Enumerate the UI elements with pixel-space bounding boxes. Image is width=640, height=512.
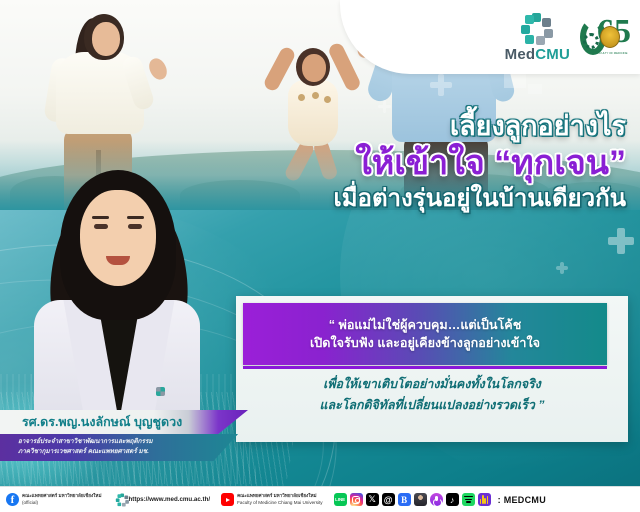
logo-bar: MedCMU 65 FACULTY OF MEDICINE: [340, 0, 640, 74]
quote-highlight-box: “ พ่อแม่ไม่ใช่ผู้ควบคุม…แต่เป็นโค้ช เปิด…: [243, 303, 607, 365]
medcmu-wordmark-prefix: Med: [505, 46, 536, 63]
medcmu-petal-mark-icon: [112, 493, 125, 506]
facebook-icon[interactable]: f: [6, 493, 19, 506]
quote-sub-line-1: เพื่อให้เขาเติบโตอย่างมั่นคงทั้งในโลกจริ…: [323, 376, 541, 394]
poster-canvas: MedCMU 65 FACULTY OF MEDICINE เลี้ยงลูกอ…: [0, 0, 640, 512]
footer-social-icons: LINE 𝕏 @ B ♪: [334, 493, 491, 506]
x-glyph: 𝕏: [368, 494, 375, 505]
footer-website[interactable]: https://www.med.cmu.ac.th/: [112, 493, 210, 506]
medcmu-petal-mark-icon: [521, 13, 553, 45]
headline-line-1: เลี้ยงลูกอย่างไร: [186, 112, 626, 141]
footer-bar: f คณะแพทยศาสตร์ มหาวิทยาลัยเชียงใหม่ (of…: [0, 486, 640, 512]
medical-cross-icon: [430, 74, 452, 96]
tiktok-glyph: ♪: [450, 495, 455, 505]
tiktok-icon[interactable]: ♪: [446, 493, 459, 506]
mother-face: [92, 22, 120, 56]
speaker-affiliation-line-1: อาจารย์ประจำสาขาวิชาพัฒนาการและพฤติกรรม: [18, 437, 248, 447]
line-glyph: LINE: [335, 497, 345, 502]
speaker-eye-right: [128, 224, 142, 229]
speaker-name: รศ.ดร.พญ.นงลักษณ์ บุญชูดวง: [0, 412, 182, 432]
medcmu-logo: MedCMU: [505, 13, 570, 62]
quote-highlight-line-2: เปิดใจรับฟัง และอยู่เคียงข้างลูกอย่างเข้…: [310, 334, 540, 352]
quote-sub-line-2: และโลกดิจิทัลที่เปลี่ยนแปลงอย่างรวดเร็ว …: [320, 397, 545, 415]
medcmu-wordmark: MedCMU: [505, 47, 570, 62]
quote-highlight-line-1: “ พ่อแม่ไม่ใช่ผู้ควบคุม…แต่เป็นโค้ช: [329, 316, 522, 334]
speaker-name-bar: รศ.ดร.พญ.นงลักษณ์ บุญชูดวง: [0, 410, 248, 434]
speaker-photo: [18, 168, 214, 436]
footer-handle: : MEDCMU: [498, 495, 546, 505]
decorative-square: [528, 84, 542, 94]
youtube-play-triangle: [226, 498, 230, 502]
footer-youtube[interactable]: คณะแพทยศาสตร์ มหาวิทยาลัยเชียงใหม่ Facul…: [221, 493, 323, 506]
medical-cross-icon: [556, 262, 568, 274]
decorative-square: [504, 72, 526, 88]
instagram-icon[interactable]: [350, 493, 363, 506]
anniversary-seal-icon: [600, 26, 620, 48]
footer-facebook-label: คณะแพทยศาสตร์ มหาวิทยาลัยเชียงใหม่ (offi…: [22, 493, 101, 505]
headline-block: เลี้ยงลูกอย่างไร ให้เข้าใจ “ทุกเจน” เมื่…: [186, 112, 626, 212]
speaker-brow-left: [92, 216, 109, 219]
anniversary-caption: FACULTY OF MEDICINE: [596, 51, 627, 55]
headline-line-2: ให้เข้าใจ “ทุกเจน”: [186, 145, 626, 182]
line-icon[interactable]: LINE: [334, 493, 347, 506]
footer-youtube-line-2: Faculty of Medicine Chiang Mai Universit…: [237, 500, 323, 505]
blockdit-glyph: B: [401, 495, 407, 505]
medical-cross-icon: [608, 228, 634, 254]
footer-facebook-line-2: (official): [22, 500, 38, 505]
speaker-coat-badge: [156, 384, 186, 398]
photo-icon[interactable]: [414, 493, 427, 506]
instagram-camera-glyph: [352, 496, 360, 504]
soundwave-icon[interactable]: [478, 493, 491, 506]
quote-subtext: เพื่อให้เขาเติบโตอย่างมั่นคงทั้งในโลกจริ…: [236, 376, 628, 415]
medcmu-wordmark-suffix: CMU: [535, 46, 570, 63]
speaker-eye-left: [94, 224, 108, 229]
soundwave-bars-glyph: [480, 495, 489, 504]
footer-facebook[interactable]: f คณะแพทยศาสตร์ มหาวิทยาลัยเชียงใหม่ (of…: [6, 493, 101, 506]
speaker-affiliation-bar: อาจารย์ประจำสาขาวิชาพัฒนาการและพฤติกรรม …: [0, 434, 248, 461]
anniversary-gear-icon: [583, 33, 599, 49]
apple-podcasts-icon[interactable]: [430, 493, 443, 506]
badge-mark-icon: [156, 387, 165, 396]
footer-youtube-label: คณะแพทยศาสตร์ มหาวิทยาลัยเชียงใหม่ Facul…: [237, 493, 323, 505]
x-twitter-icon[interactable]: 𝕏: [366, 493, 379, 506]
anniversary-65-logo: 65 FACULTY OF MEDICINE: [580, 15, 626, 59]
speaker-nameplate: รศ.ดร.พญ.นงลักษณ์ บุญชูดวง อาจารย์ประจำส…: [0, 410, 248, 461]
speaker-face: [80, 190, 156, 286]
spotify-icon[interactable]: [462, 493, 475, 506]
youtube-icon[interactable]: [221, 493, 234, 506]
facebook-glyph: f: [11, 494, 15, 506]
speaker-brow-right: [127, 216, 144, 219]
podcast-mic-glyph: [433, 496, 440, 504]
speaker-affiliation-line-2: ภาควิชากุมารเวชศาสตร์ คณะแพทยศาสตร์ มช.: [18, 447, 248, 457]
headline-line-3: เมื่อต่างรุ่นอยู่ในบ้านเดียวกัน: [186, 186, 626, 212]
footer-website-url[interactable]: https://www.med.cmu.ac.th/: [128, 496, 210, 503]
threads-icon[interactable]: @: [382, 493, 395, 506]
threads-glyph: @: [384, 495, 393, 505]
quote-underline: [243, 366, 607, 369]
blockdit-icon[interactable]: B: [398, 493, 411, 506]
girl-face: [302, 54, 326, 82]
spotify-waves-glyph: [464, 496, 473, 503]
quote-panel: “ พ่อแม่ไม่ใช่ผู้ควบคุม…แต่เป็นโค้ช เปิด…: [236, 296, 628, 442]
